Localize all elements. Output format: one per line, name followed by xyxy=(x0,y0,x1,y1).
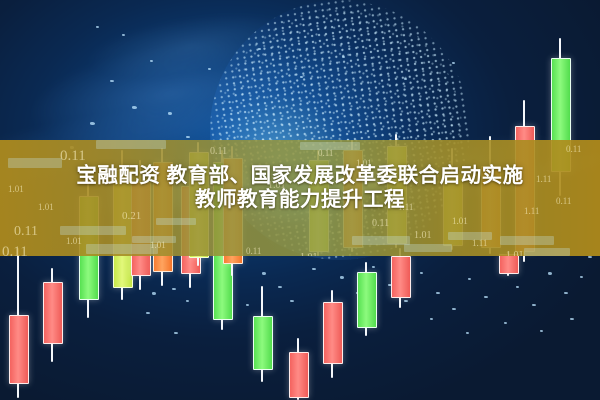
band-bar xyxy=(524,248,570,256)
band-number: 0.11 xyxy=(566,144,581,154)
band-number: 1.01 xyxy=(414,230,432,241)
band-number: 0.11 xyxy=(372,218,389,229)
band-bar xyxy=(96,140,166,149)
band-bar xyxy=(156,218,196,225)
headline-line-1: 宝融配资 教育部、国家发展改革委联合启动实施 xyxy=(0,164,600,188)
candle-body xyxy=(357,272,377,328)
band-number: 1.01 xyxy=(150,240,166,250)
candle-body xyxy=(43,282,63,344)
band-number: 1.11 xyxy=(472,238,487,248)
band-bar xyxy=(500,236,554,245)
band-number: 0.11 xyxy=(60,148,86,165)
candle-body xyxy=(289,352,309,398)
candlestick xyxy=(391,248,409,308)
candle-body xyxy=(253,316,273,370)
candlestick xyxy=(253,286,271,382)
banner-image: 0.111.010.110.111.010.211.010.111.010.11… xyxy=(0,0,600,400)
band-bar xyxy=(60,226,126,235)
band-number: 1.01 xyxy=(452,216,468,226)
band-number: 0.11 xyxy=(14,224,38,240)
band-number: 0.11 xyxy=(246,246,261,256)
candlestick xyxy=(9,248,27,398)
band-bar xyxy=(86,244,158,254)
candlestick xyxy=(323,290,341,378)
candle-body xyxy=(9,315,29,384)
band-number: 1.01 xyxy=(66,236,82,246)
candle-body xyxy=(391,256,411,298)
band-bar xyxy=(352,236,410,245)
band-number: 0.21 xyxy=(122,210,141,222)
headline-line-2: 教师教育能力提升工程 xyxy=(0,188,600,212)
candle-body xyxy=(499,254,519,274)
headline-block: 宝融配资 教育部、国家发展改革委联合启动实施 教师教育能力提升工程 xyxy=(0,164,600,212)
band-number: 0.11 xyxy=(318,148,333,158)
band-number: 0.11 xyxy=(210,146,227,157)
band-number: 0.11 xyxy=(2,244,28,256)
band-number: 1.01 xyxy=(300,252,318,256)
band-bar xyxy=(404,244,452,252)
candle-body xyxy=(323,302,343,364)
candlestick xyxy=(357,262,375,336)
candlestick xyxy=(289,338,307,400)
candlestick xyxy=(43,268,61,362)
band-number: 1.01 xyxy=(506,250,524,256)
